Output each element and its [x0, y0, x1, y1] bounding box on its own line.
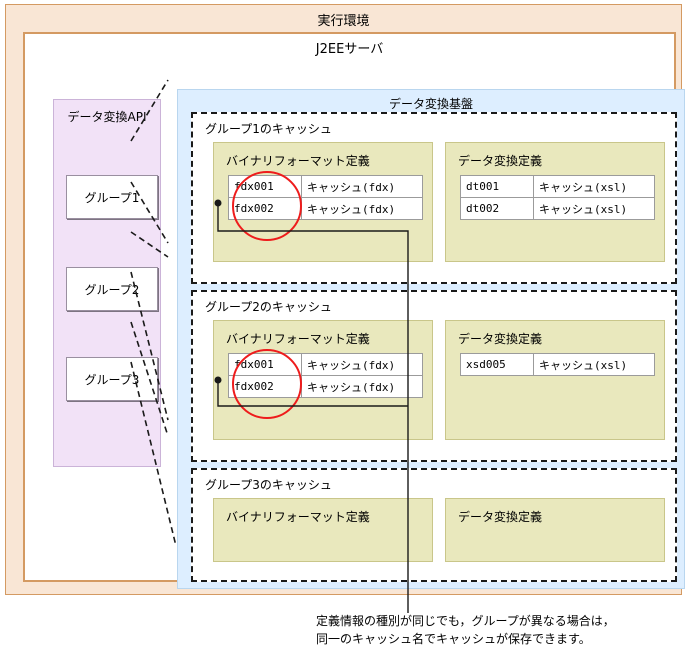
binary-format-definition-box-group3: バイナリフォーマット定義	[213, 498, 433, 562]
data-conversion-api-title: データ変換API	[54, 108, 160, 125]
group-box-2-label: グループ2	[85, 281, 140, 298]
cache-region-group3-title: グループ3のキャッシュ	[205, 476, 332, 493]
cache-type-cell: キャッシュ(xsl)	[534, 198, 655, 220]
group-box-3-label: グループ3	[85, 371, 140, 388]
cache-name-cell: fdx001	[229, 176, 302, 198]
execution-environment-title: 実行環境	[6, 10, 681, 29]
data-conversion-platform-title: データ変換基盤	[178, 95, 684, 112]
cache-region-group2: グループ2のキャッシュ バイナリフォーマット定義 fdx001 キャッシュ(fd…	[191, 290, 677, 462]
table-row: fdx001 キャッシュ(fdx)	[229, 354, 423, 376]
annotation-note: 定義情報の種別が同じでも，グループが異なる場合は， 同一のキャッシュ名でキャッシ…	[316, 612, 681, 648]
cache-region-group1: グループ1のキャッシュ バイナリフォーマット定義 fdx001 キャッシュ(fd…	[191, 112, 677, 284]
group-box-3[interactable]: グループ3	[66, 357, 158, 401]
cache-type-cell: キャッシュ(xsl)	[534, 354, 655, 376]
cache-type-cell: キャッシュ(fdx)	[302, 376, 423, 398]
data-transform-cache-table-group1: dt001 キャッシュ(xsl) dt002 キャッシュ(xsl)	[460, 175, 655, 220]
binary-format-definition-title-group1: バイナリフォーマット定義	[226, 152, 370, 169]
cache-type-cell: キャッシュ(fdx)	[302, 354, 423, 376]
table-row: dt001 キャッシュ(xsl)	[461, 176, 655, 198]
binary-format-definition-box-group2: バイナリフォーマット定義 fdx001 キャッシュ(fdx) fdx002 キャ…	[213, 320, 433, 440]
cache-name-cell: fdx002	[229, 198, 302, 220]
cache-region-group3: グループ3のキャッシュ バイナリフォーマット定義 データ変換定義	[191, 468, 677, 582]
cache-name-cell: dt002	[461, 198, 534, 220]
group-box-2[interactable]: グループ2	[66, 267, 158, 311]
cache-region-group1-title: グループ1のキャッシュ	[205, 120, 332, 137]
table-row: fdx001 キャッシュ(fdx)	[229, 176, 423, 198]
data-transform-cache-table-group2: xsd005 キャッシュ(xsl)	[460, 353, 655, 376]
cache-type-cell: キャッシュ(fdx)	[302, 198, 423, 220]
cache-name-cell: fdx002	[229, 376, 302, 398]
table-row: dt002 キャッシュ(xsl)	[461, 198, 655, 220]
j2ee-server-title: J2EEサーバ	[25, 38, 674, 57]
data-transform-definition-box-group3: データ変換定義	[445, 498, 665, 562]
data-transform-definition-title-group1: データ変換定義	[458, 152, 542, 169]
binary-format-definition-title-group3: バイナリフォーマット定義	[226, 508, 370, 525]
cache-name-cell: dt001	[461, 176, 534, 198]
group-box-1[interactable]: グループ1	[66, 175, 158, 219]
cache-name-cell: xsd005	[461, 354, 534, 376]
data-transform-definition-box-group1: データ変換定義 dt001 キャッシュ(xsl) dt002 キャッシュ(xsl…	[445, 142, 665, 262]
data-conversion-platform-panel: データ変換基盤 グループ1のキャッシュ バイナリフォーマット定義 fdx001 …	[177, 89, 685, 589]
table-row: fdx002 キャッシュ(fdx)	[229, 376, 423, 398]
binary-format-cache-table-group2: fdx001 キャッシュ(fdx) fdx002 キャッシュ(fdx)	[228, 353, 423, 398]
binary-format-definition-box-group1: バイナリフォーマット定義 fdx001 キャッシュ(fdx) fdx002 キャ…	[213, 142, 433, 262]
binary-format-cache-table-group1: fdx001 キャッシュ(fdx) fdx002 キャッシュ(fdx)	[228, 175, 423, 220]
annotation-line-2: 同一のキャッシュ名でキャッシュが保存できます。	[316, 630, 681, 648]
j2ee-server-box: J2EEサーバ データ変換API グループ1 グループ2 グループ3 データ変換…	[23, 32, 676, 582]
annotation-line-1: 定義情報の種別が同じでも，グループが異なる場合は，	[316, 612, 681, 630]
cache-type-cell: キャッシュ(fdx)	[302, 176, 423, 198]
table-row: fdx002 キャッシュ(fdx)	[229, 198, 423, 220]
data-transform-definition-title-group3: データ変換定義	[458, 508, 542, 525]
cache-name-cell: fdx001	[229, 354, 302, 376]
execution-environment-frame: 実行環境 J2EEサーバ データ変換API グループ1 グループ2 グループ3 …	[5, 4, 682, 595]
table-row: xsd005 キャッシュ(xsl)	[461, 354, 655, 376]
binary-format-definition-title-group2: バイナリフォーマット定義	[226, 330, 370, 347]
data-transform-definition-title-group2: データ変換定義	[458, 330, 542, 347]
cache-region-group2-title: グループ2のキャッシュ	[205, 298, 332, 315]
data-transform-definition-box-group2: データ変換定義 xsd005 キャッシュ(xsl)	[445, 320, 665, 440]
data-conversion-api-panel: データ変換API グループ1 グループ2 グループ3	[53, 99, 161, 467]
cache-type-cell: キャッシュ(xsl)	[534, 176, 655, 198]
group-box-1-label: グループ1	[85, 189, 140, 206]
